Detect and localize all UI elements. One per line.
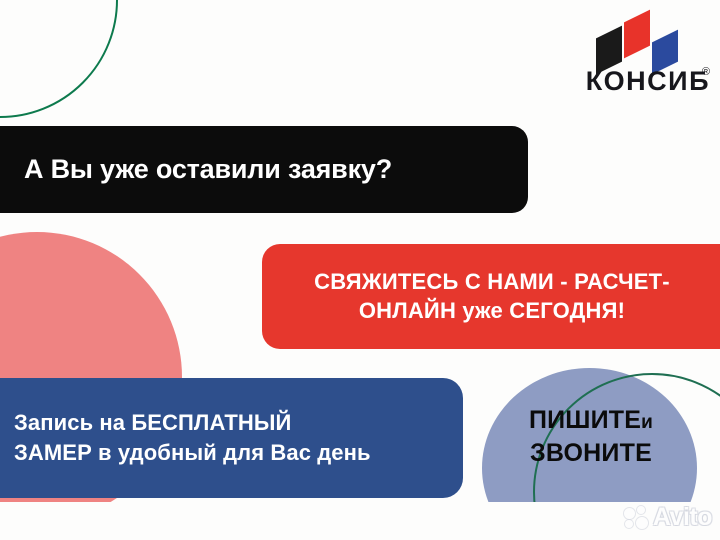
call-to-action-text: ПИШИТЕи ЗВОНИТЕ: [486, 404, 696, 470]
avito-dots-icon: [624, 506, 650, 530]
avito-watermark: Avito: [624, 503, 712, 532]
avito-watermark-label: Avito: [653, 503, 712, 532]
booking-banner: Запись на БЕСПЛАТНЫЙ ЗАМЕР в удобный для…: [0, 378, 463, 498]
cta-line-1-conjunction: и: [641, 412, 653, 433]
question-banner-text: А Вы уже оставили заявку?: [24, 155, 392, 185]
bottom-background-strip: [0, 502, 720, 540]
registered-trademark-icon: ®: [702, 66, 710, 78]
cta-line-2: ЗВОНИТЕ: [530, 439, 652, 467]
booking-banner-line-1: Запись на БЕСПЛАТНЫЙ: [14, 410, 291, 435]
promo-banner-canvas: КОНСИБ ® А Вы уже оставили заявку? СВЯЖИ…: [0, 0, 720, 540]
offer-banner-line-1: СВЯЖИТЕСЬ С НАМИ - РАСЧЕТ-: [314, 269, 670, 294]
logo-parallelogram-mark: [562, 16, 710, 66]
logo-parallelogram-red-icon: [624, 10, 650, 59]
offer-banner-line-2: ОНЛАЙН уже СЕГОДНЯ!: [359, 298, 625, 323]
green-circle-outline-top-left: [0, 0, 118, 118]
logo-wordmark: КОНСИБ: [562, 68, 710, 95]
question-banner: А Вы уже оставили заявку?: [0, 126, 528, 213]
cta-line-1-main: ПИШИТЕ: [529, 406, 641, 434]
brand-logo: КОНСИБ ®: [562, 16, 710, 102]
booking-banner-text: Запись на БЕСПЛАТНЫЙ ЗАМЕР в удобный для…: [14, 408, 371, 469]
offer-banner-text: СВЯЖИТЕСЬ С НАМИ - РАСЧЕТ- ОНЛАЙН уже СЕ…: [314, 268, 670, 324]
booking-banner-line-2: ЗАМЕР в удобный для Вас день: [14, 440, 371, 465]
offer-banner: СВЯЖИТЕСЬ С НАМИ - РАСЧЕТ- ОНЛАЙН уже СЕ…: [262, 244, 720, 349]
